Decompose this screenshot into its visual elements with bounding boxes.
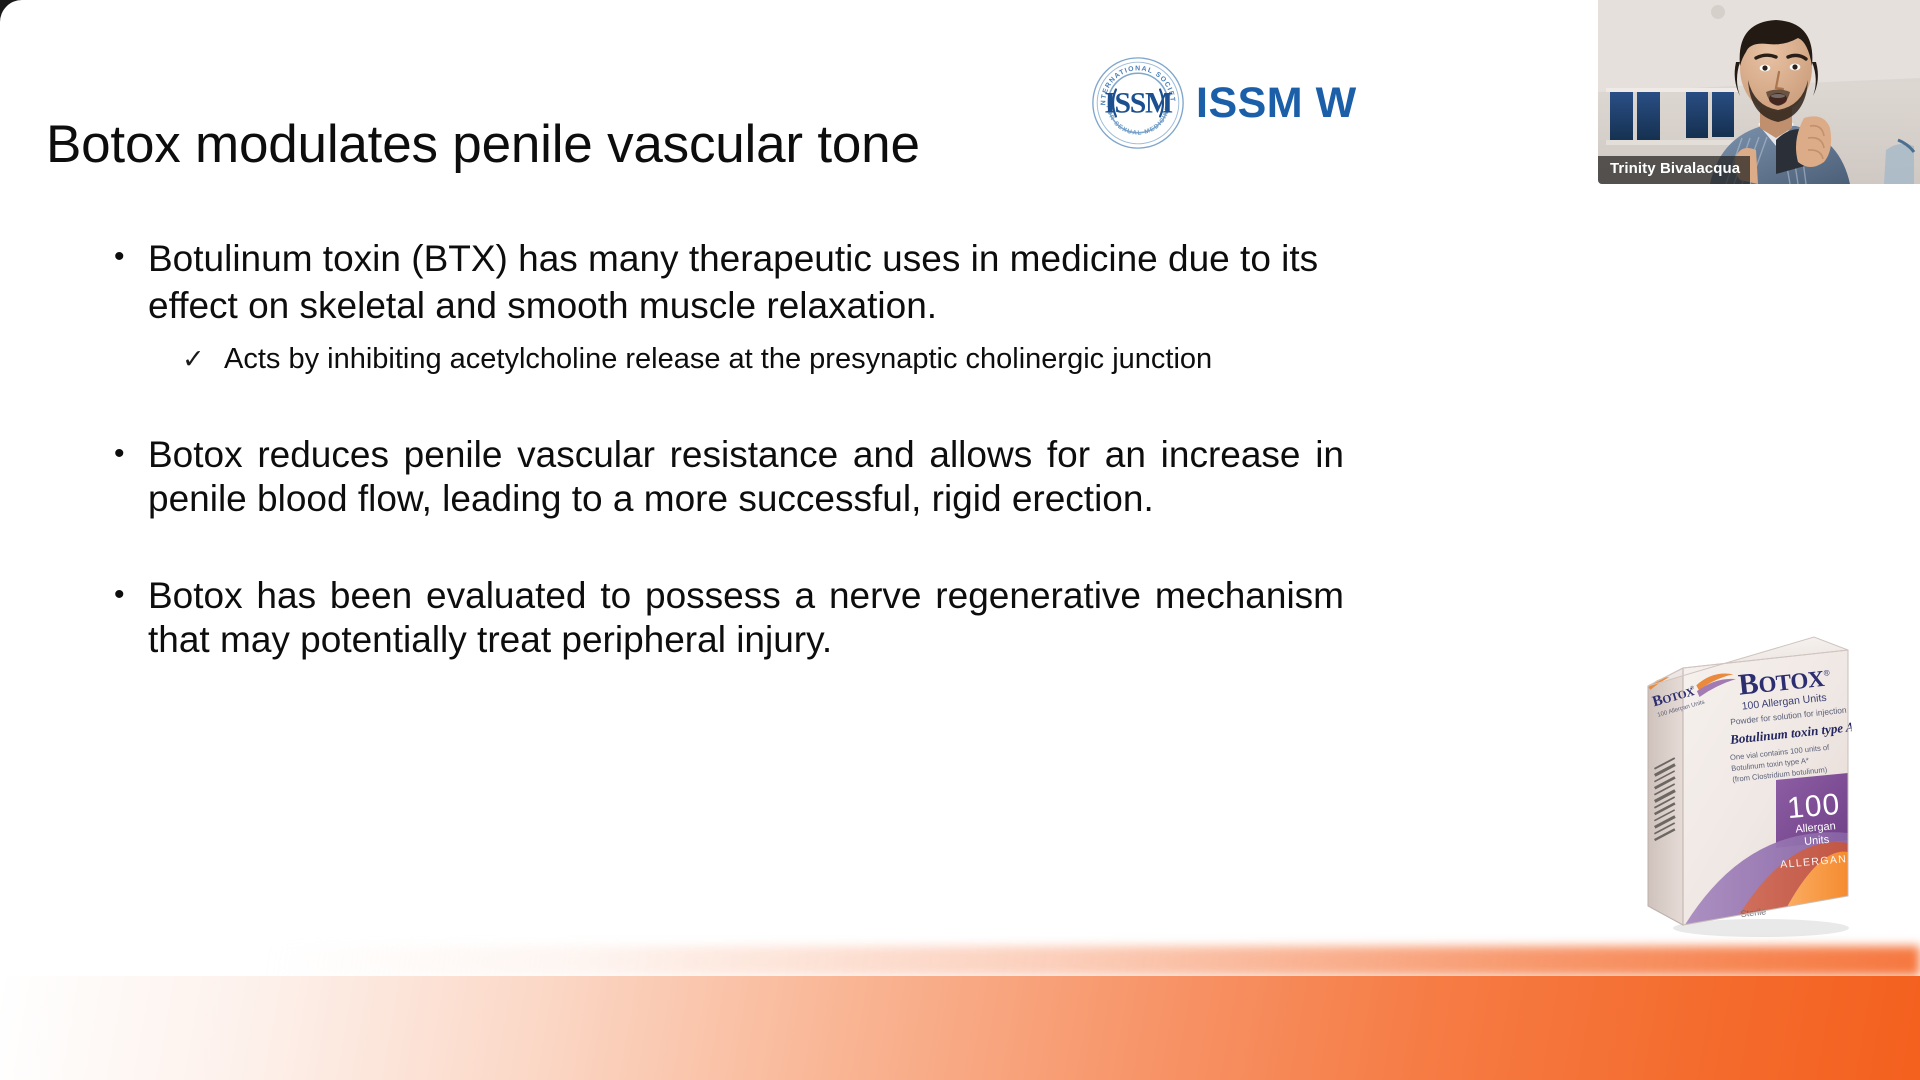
- video-participant-tile[interactable]: Trinity Bivalacqua: [1598, 0, 1920, 184]
- participant-name-label: Trinity Bivalacqua: [1598, 156, 1750, 184]
- sub-bullet-item: ✓ Acts by inhibiting acetylcholine relea…: [182, 341, 1344, 379]
- bullet-marker-icon: •: [114, 236, 148, 279]
- bullet-item: • Botox reduces penile vascular resistan…: [114, 433, 1344, 520]
- slide-body: • Botulinum toxin (BTX) has many therape…: [114, 236, 1344, 666]
- bullet-marker-icon: •: [114, 433, 148, 476]
- bullet-text: Botox reduces penile vascular resistance…: [148, 433, 1344, 520]
- check-icon: ✓: [182, 341, 224, 378]
- bullet-marker-icon: •: [114, 574, 148, 617]
- issm-logo: INTERNATIONAL SOCIETY FOR SEXUAL MEDICIN…: [1090, 55, 1357, 151]
- issm-wordmark: ISSM W: [1196, 82, 1357, 125]
- botox-product-image: B OTOX ® 100 Allergan Units Powder for s…: [1636, 628, 1858, 938]
- svg-text:®: ®: [1823, 668, 1830, 678]
- issm-seal-icon: INTERNATIONAL SOCIETY FOR SEXUAL MEDICIN…: [1090, 55, 1186, 151]
- bullet-text: Botulinum toxin (BTX) has many therapeut…: [148, 236, 1344, 329]
- bottom-band-fade: [0, 946, 1920, 976]
- bullet-item: • Botulinum toxin (BTX) has many therape…: [114, 236, 1344, 329]
- spacer: [114, 379, 1344, 433]
- bullet-item: • Botox has been evaluated to possess a …: [114, 574, 1344, 661]
- bottom-accent-band: [0, 976, 1920, 1080]
- bullet-text: Botox has been evaluated to possess a ne…: [148, 574, 1344, 661]
- spacer: [114, 524, 1344, 574]
- slide-title: Botox modulates penile vascular tone: [46, 116, 920, 174]
- svg-text:Units: Units: [1804, 834, 1831, 848]
- sub-bullet-text: Acts by inhibiting acetylcholine release…: [224, 341, 1344, 379]
